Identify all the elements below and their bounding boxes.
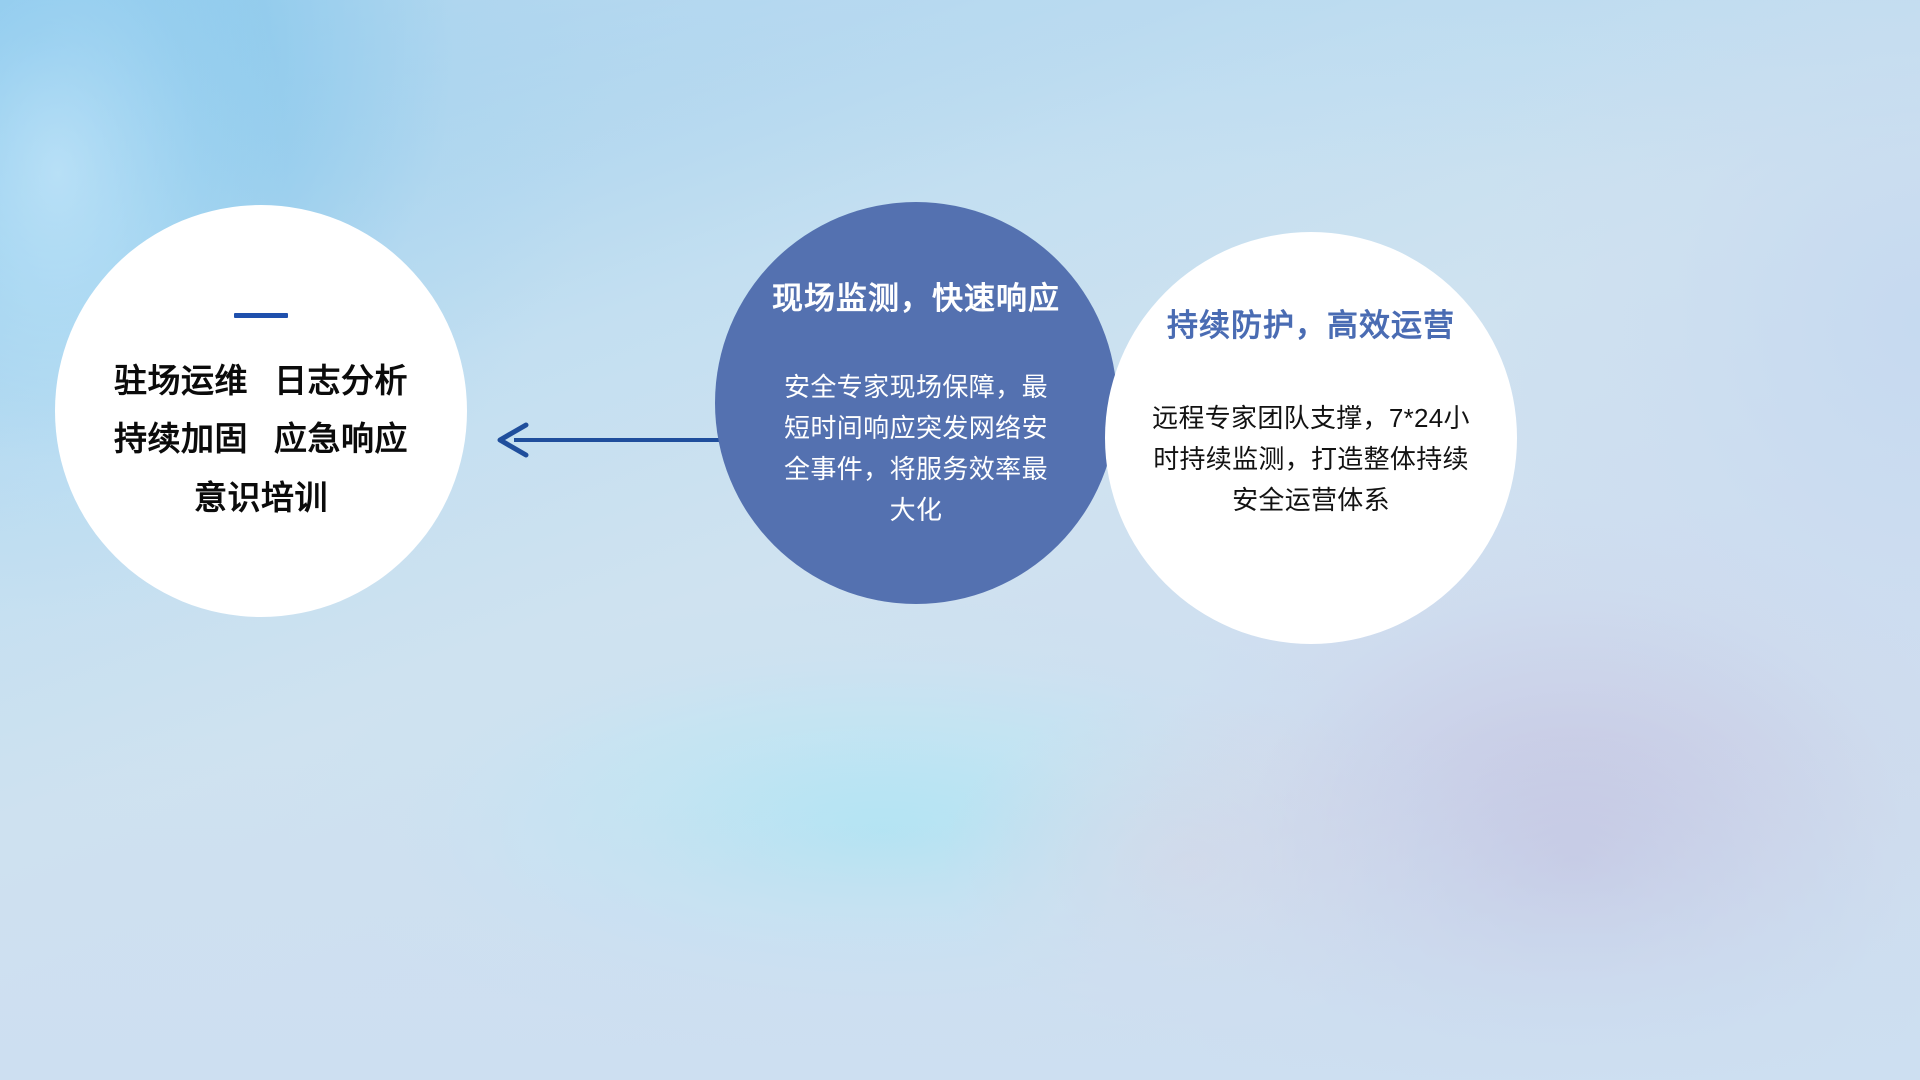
right-circle-title: 持续防护，高效运营 (1167, 307, 1455, 344)
slide-canvas: 驻场运维日志分析 持续加固应急响应 意识培训 现场监测，快速响应 安全专家现场保… (0, 0, 1920, 1080)
right-operations-circle[interactable]: 持续防护，高效运营 远程专家团队支撑，7*24小时持续监测，打造整体持续安全运营… (1105, 232, 1517, 644)
left-line-3-first: 意识培训 (194, 479, 328, 516)
left-service-list: 驻场运维日志分析 持续加固应急响应 意识培训 (55, 363, 467, 516)
middle-circle-body: 安全专家现场保障，最短时间响应突发网络安全事件，将服务效率最大化 (780, 367, 1052, 531)
middle-circle-title: 现场监测，快速响应 (772, 280, 1060, 317)
left-arrow-icon (492, 418, 722, 462)
middle-onsite-circle[interactable]: 现场监测，快速响应 安全专家现场保障，最短时间响应突发网络安全事件，将服务效率最… (715, 202, 1117, 604)
left-service-circle[interactable]: 驻场运维日志分析 持续加固应急响应 意识培训 (55, 205, 467, 617)
left-line-2-first: 持续加固 (114, 420, 248, 457)
list-item: 持续加固应急响应 (114, 421, 408, 457)
left-line-1-second: 日志分析 (274, 362, 408, 399)
list-item: 驻场运维日志分析 (114, 363, 408, 399)
list-item: 意识培训 (194, 480, 328, 516)
divider-dash-icon (234, 313, 288, 318)
left-line-1-first: 驻场运维 (114, 362, 248, 399)
left-line-2-second: 应急响应 (274, 420, 408, 457)
right-circle-body: 远程专家团队支撑，7*24小时持续监测，打造整体持续安全运营体系 (1146, 398, 1476, 521)
